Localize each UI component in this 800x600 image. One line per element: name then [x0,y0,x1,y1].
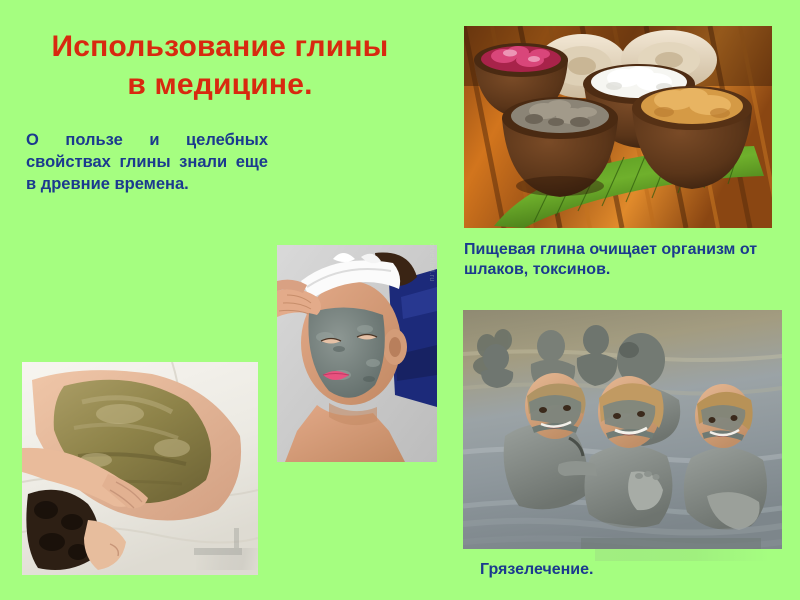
mud-bath-image [463,310,782,549]
intro-body-text: О пользе и целебных свойствах глины знал… [26,130,268,195]
clay-face-mask-image [277,245,437,462]
caption-mud-therapy: Грязелечение. [480,561,593,579]
clay-body-wrap-image [22,362,258,575]
watermark-mud-bath [595,549,770,561]
caption-food-clay: Пищевая глина очищает организм от шлаков… [464,240,794,281]
mud-bath-photo [463,310,782,549]
clay-face-mask-photo [277,245,437,462]
spa-bowls-image [464,26,772,228]
presentation-slide: Использование глины в медицине. О пользе… [0,0,800,600]
spa-bowls-photo [464,26,772,228]
page-title: Использование глины в медицине. [20,28,420,105]
clay-body-wrap-photo [22,362,258,575]
